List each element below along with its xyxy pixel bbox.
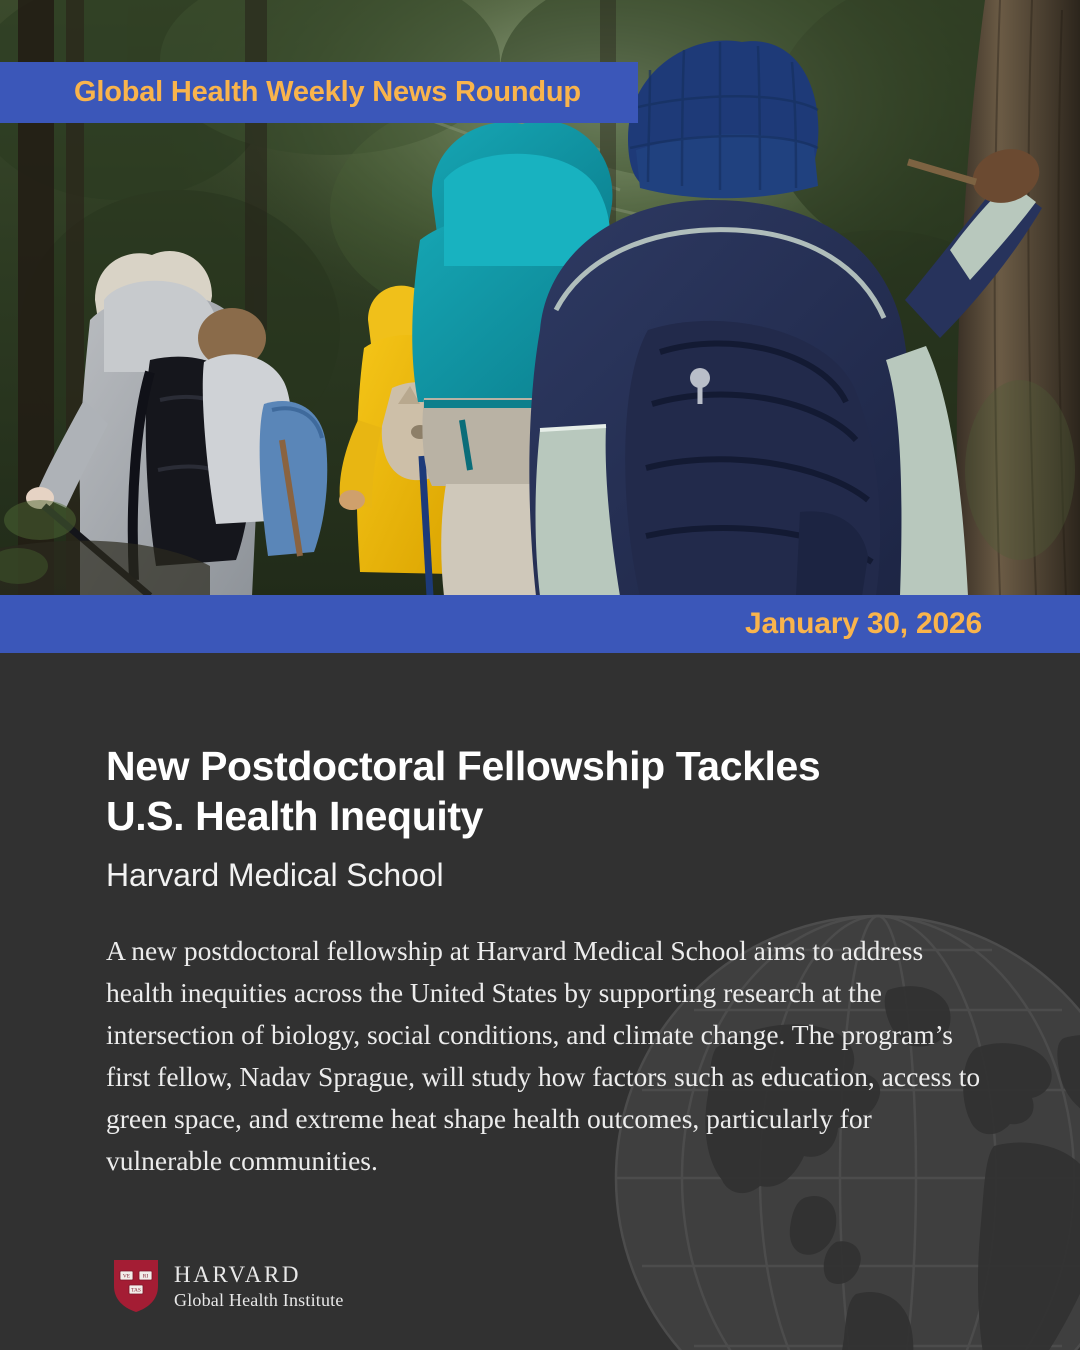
- top-banner: Global Health Weekly News Roundup: [0, 62, 638, 123]
- article-content: New Postdoctoral Fellowship Tackles U.S.…: [106, 741, 986, 1182]
- top-banner-label: Global Health Weekly News Roundup: [74, 76, 581, 109]
- harvard-wordmark: HARVARD Global Health Institute: [174, 1263, 344, 1309]
- shield-motto-tas: TAS: [131, 1287, 141, 1293]
- article-headline: New Postdoctoral Fellowship Tackles U.S.…: [106, 741, 986, 841]
- article-source: Harvard Medical School: [106, 857, 986, 894]
- harvard-ghi-logo: VE RI TAS HARVARD Global Health Institut…: [112, 1258, 344, 1314]
- news-roundup-card: Global Health Weekly News Roundup Januar…: [0, 0, 1080, 1350]
- date-banner: January 30, 2026: [0, 595, 1080, 653]
- issue-date: January 30, 2026: [745, 607, 982, 641]
- shield-motto-ri: RI: [143, 1273, 149, 1279]
- shield-motto-ve: VE: [123, 1273, 131, 1279]
- article-body: A new postdoctoral fellowship at Harvard…: [106, 930, 986, 1182]
- harvard-shield-icon: VE RI TAS: [112, 1258, 160, 1314]
- harvard-unit-text: Global Health Institute: [174, 1291, 344, 1309]
- harvard-wordmark-text: HARVARD: [174, 1263, 344, 1286]
- article-panel: New Postdoctoral Fellowship Tackles U.S.…: [0, 653, 1080, 1350]
